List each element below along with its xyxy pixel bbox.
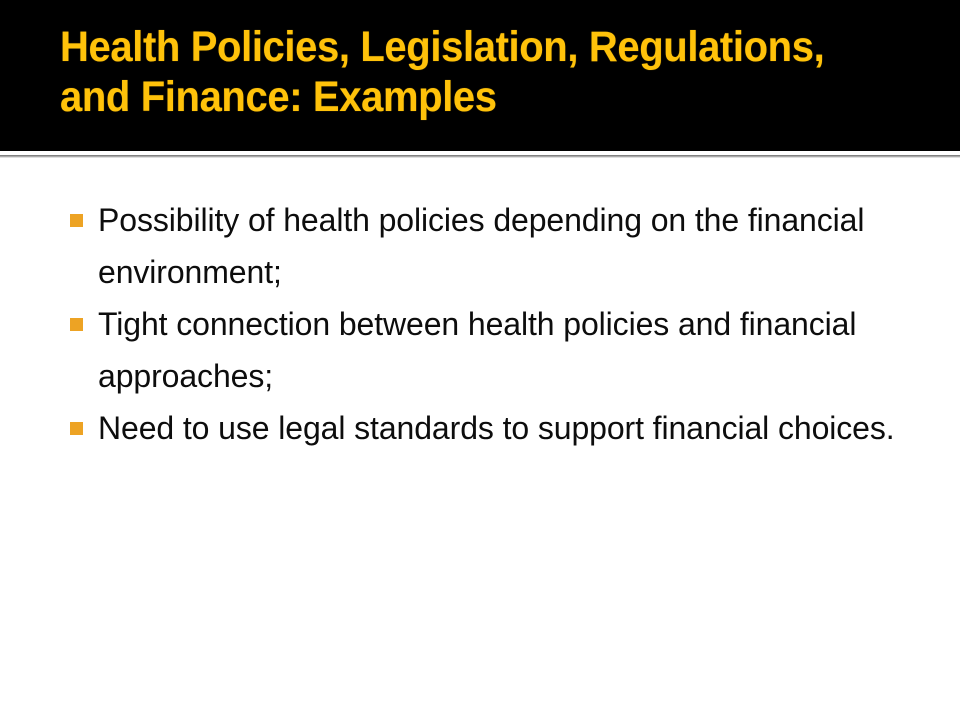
list-item: Tight connection between health policies… xyxy=(62,298,942,402)
slide-title: Health Policies, Legislation, Regulation… xyxy=(60,22,860,122)
list-item-text: Need to use legal standards to support f… xyxy=(98,402,942,454)
list-item-text: Possibility of health policies depending… xyxy=(98,194,942,298)
bullet-list: Possibility of health policies depending… xyxy=(62,194,942,454)
list-item: Possibility of health policies depending… xyxy=(62,194,942,298)
slide-body: Possibility of health policies depending… xyxy=(0,158,960,720)
square-bullet-icon xyxy=(70,214,83,227)
square-bullet-icon xyxy=(70,422,83,435)
list-item: Need to use legal standards to support f… xyxy=(62,402,942,454)
square-bullet-icon xyxy=(70,318,83,331)
list-item-text: Tight connection between health policies… xyxy=(98,298,942,402)
presentation-slide: Health Policies, Legislation, Regulation… xyxy=(0,0,960,720)
slide-title-band: Health Policies, Legislation, Regulation… xyxy=(0,0,960,151)
